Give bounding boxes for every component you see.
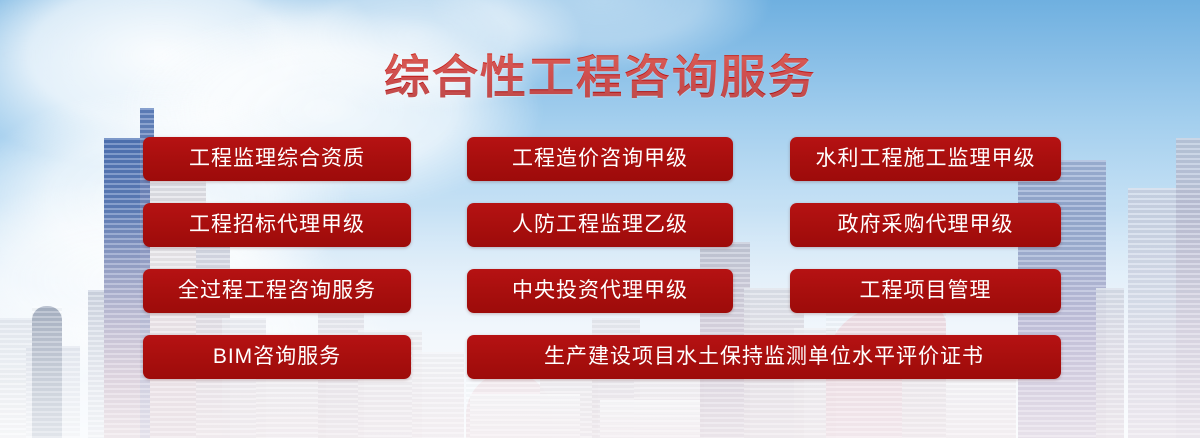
qualification-tag[interactable]: 工程项目管理 [790, 269, 1061, 313]
qualification-tag[interactable]: 工程监理综合资质 [143, 137, 411, 181]
qualification-tag[interactable]: 水利工程施工监理甲级 [790, 137, 1061, 181]
qualification-tag[interactable]: 全过程工程咨询服务 [143, 269, 411, 313]
qualification-tag[interactable]: 人防工程监理乙级 [467, 203, 733, 247]
tag-row: 工程监理综合资质 工程造价咨询甲级 水利工程施工监理甲级 [143, 137, 1061, 181]
qualification-tag[interactable]: 中央投资代理甲级 [467, 269, 733, 313]
qualification-tag[interactable]: 工程造价咨询甲级 [467, 137, 733, 181]
qualification-tag-grid: 工程监理综合资质 工程造价咨询甲级 水利工程施工监理甲级 工程招标代理甲级 人防… [143, 137, 1061, 379]
qualification-tag[interactable]: BIM咨询服务 [143, 335, 411, 379]
page-title: 综合性工程咨询服务 [0, 48, 1200, 106]
qualification-tag[interactable]: 政府采购代理甲级 [790, 203, 1061, 247]
qualification-tag[interactable]: 工程招标代理甲级 [143, 203, 411, 247]
qualification-tag[interactable]: 生产建设项目水土保持监测单位水平评价证书 [467, 335, 1061, 379]
tag-row: 工程招标代理甲级 人防工程监理乙级 政府采购代理甲级 [143, 203, 1061, 247]
tag-row: BIM咨询服务 生产建设项目水土保持监测单位水平评价证书 [143, 335, 1061, 379]
tag-row: 全过程工程咨询服务 中央投资代理甲级 工程项目管理 [143, 269, 1061, 313]
promo-banner: 综合性工程咨询服务 工程监理综合资质 工程造价咨询甲级 水利工程施工监理甲级 工… [0, 0, 1200, 438]
